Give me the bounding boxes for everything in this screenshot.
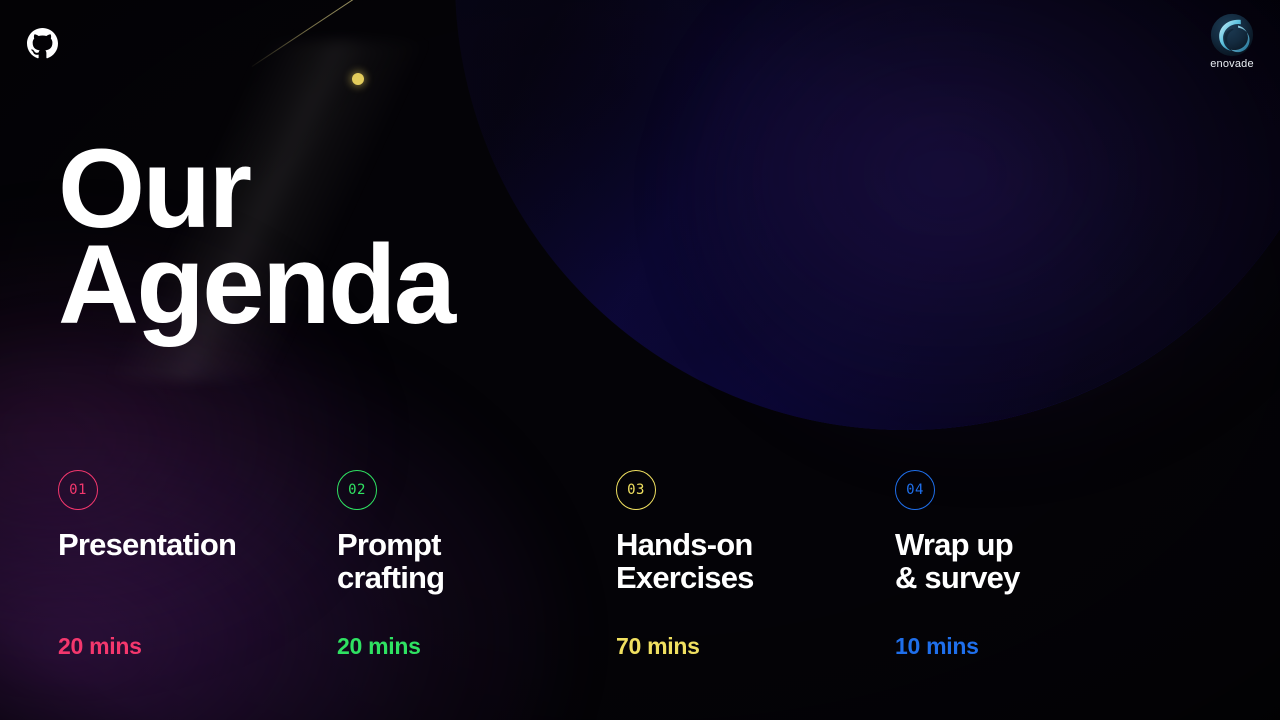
agenda-duration-01: 20 mins (58, 633, 142, 660)
agenda-duration-04: 10 mins (895, 633, 979, 660)
agenda-title-03: Hands-on Exercises (616, 528, 895, 594)
agenda-number-badge-04: 04 (895, 470, 935, 510)
enovade-logo: enovade (1203, 13, 1261, 75)
agenda-slide: enovade Our Agenda 01 Presentation 20 mi… (0, 0, 1280, 720)
agenda-item-04: 04 Wrap up & survey 10 mins (895, 470, 1174, 594)
agenda-duration-03: 70 mins (616, 633, 700, 660)
enovade-wordmark: enovade (1203, 58, 1261, 70)
agenda-list: 01 Presentation 20 mins 02 Prompt crafti… (58, 470, 1228, 594)
agenda-title-02: Prompt crafting (337, 528, 616, 594)
agenda-number-03: 03 (627, 482, 645, 498)
agenda-item-03: 03 Hands-on Exercises 70 mins (616, 470, 895, 594)
agenda-number-badge-03: 03 (616, 470, 656, 510)
enovade-swirl-icon (1210, 13, 1254, 57)
agenda-title-01: Presentation (58, 528, 337, 561)
agenda-duration-02: 20 mins (337, 633, 421, 660)
agenda-number-badge-01: 01 (58, 470, 98, 510)
agenda-item-01: 01 Presentation 20 mins (58, 470, 337, 594)
agenda-number-04: 04 (906, 482, 924, 498)
agenda-title-04: Wrap up & survey (895, 528, 1174, 594)
agenda-number-01: 01 (69, 482, 87, 498)
github-octocat-icon (27, 28, 58, 59)
agenda-number-02: 02 (348, 482, 366, 498)
agenda-item-02: 02 Prompt crafting 20 mins (337, 470, 616, 594)
yellow-dot-icon (352, 73, 364, 85)
page-title: Our Agenda (58, 141, 678, 333)
title-line-2: Agenda (58, 237, 678, 333)
agenda-number-badge-02: 02 (337, 470, 377, 510)
